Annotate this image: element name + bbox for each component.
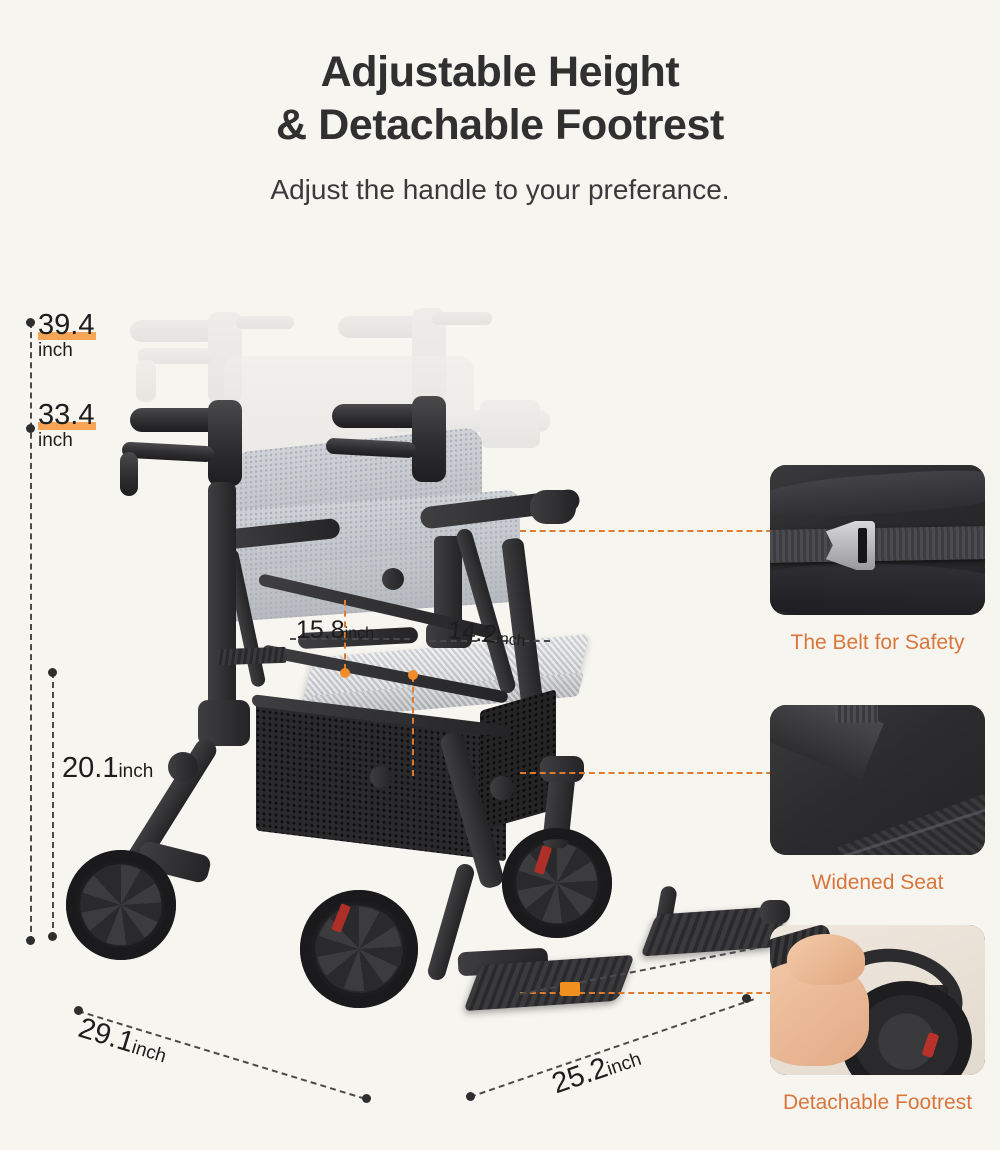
callout-seat-caption: Widened Seat xyxy=(770,871,985,895)
measurement-seat-depth-value: 14.2 xyxy=(447,616,498,649)
callout-belt-image xyxy=(770,465,985,615)
measurement-height-max: 39.4 inch xyxy=(38,310,96,361)
measurement-height-min-value: 33.4 xyxy=(38,400,96,430)
backrest-dimension-dot xyxy=(340,668,350,678)
callout-seat[interactable]: Widened Seat xyxy=(770,705,985,895)
measurement-seat-depth-unit: inch xyxy=(495,630,526,650)
measurement-backrest-value: 15.8 xyxy=(296,616,345,644)
rear-left-wheel xyxy=(66,850,176,960)
seat-cushion-marker-line xyxy=(412,676,414,776)
height-min-dot xyxy=(26,424,35,433)
left-brake-hook xyxy=(120,452,138,496)
seat-cushion-marker-dot xyxy=(408,670,418,680)
rear-right-wheel xyxy=(300,890,418,1008)
page-root: Adjustable Height & Detachable Footrest … xyxy=(0,0,1000,1150)
width-dimension-dot-end xyxy=(742,994,751,1003)
length-dimension-dot-start xyxy=(74,1006,83,1015)
page-header: Adjustable Height & Detachable Footrest … xyxy=(0,46,1000,206)
seat-height-dimension-line xyxy=(52,672,54,938)
callout-footrest[interactable]: Detachable Footrest xyxy=(770,925,985,1115)
right-handle-post xyxy=(412,396,446,482)
callout-footrest-caption: Detachable Footrest xyxy=(770,1091,985,1115)
seat-height-dot-bottom xyxy=(48,932,57,941)
product-illustration xyxy=(60,300,780,1090)
callout-belt-caption: The Belt for Safety xyxy=(770,631,985,655)
measurement-seat-height-value: 20.1 xyxy=(62,752,118,784)
measurement-height-min: 33.4 inch xyxy=(38,400,96,451)
measurement-backrest: 15.8inch xyxy=(296,616,374,645)
bolt-seat-hinge xyxy=(382,568,404,590)
height-dimension-dot-bottom xyxy=(26,936,35,945)
measurement-seat-height: 20.1inch xyxy=(62,752,153,785)
hub-bolt-left xyxy=(168,752,198,782)
bolt-rear-pivot xyxy=(490,776,514,800)
measurement-backrest-unit: inch xyxy=(345,625,374,642)
left-handle-post xyxy=(208,400,242,486)
seat-height-dot-top xyxy=(48,668,57,677)
width-dimension-dot-start xyxy=(466,1092,475,1101)
measurement-height-max-value: 39.4 xyxy=(38,310,96,340)
measurement-height-max-unit: inch xyxy=(38,341,96,361)
measurement-seat-height-unit: inch xyxy=(118,761,153,782)
page-title-line-1: Adjustable Height xyxy=(0,46,1000,99)
callout-footrest-image xyxy=(770,925,985,1075)
measurement-height-min-unit: inch xyxy=(38,431,96,451)
page-subtitle: Adjust the handle to your preferance. xyxy=(0,174,1000,206)
length-dimension-dot-end xyxy=(362,1094,371,1103)
front-fork-collar xyxy=(540,756,584,782)
footrest-left-release-button xyxy=(560,982,580,996)
bolt-frame-mid xyxy=(370,766,392,788)
callout-belt[interactable]: The Belt for Safety xyxy=(770,465,985,655)
height-dimension-line-outer xyxy=(30,322,32,942)
side-strap xyxy=(218,647,287,665)
height-dimension-dot-top xyxy=(26,318,35,327)
leader-line-belt xyxy=(520,530,782,532)
front-wheel xyxy=(502,828,612,938)
footrest-right-end-cap xyxy=(760,900,790,924)
callout-seat-image xyxy=(770,705,985,855)
leader-line-seat xyxy=(520,772,782,774)
page-title-line-2: & Detachable Footrest xyxy=(0,99,1000,152)
right-armrest-knuckle xyxy=(530,490,576,524)
